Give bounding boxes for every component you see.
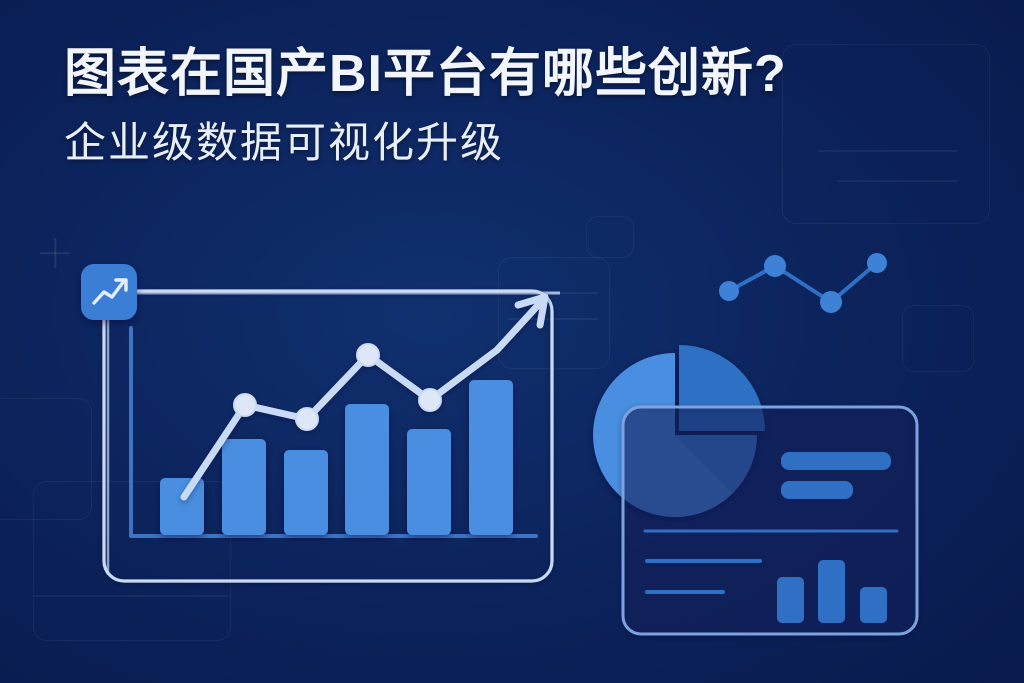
page-title: 图表在国产BI平台有哪些创新? (64, 44, 1014, 104)
illustration-area (0, 235, 1024, 683)
dashboard-kpi-bar-1 (781, 452, 891, 470)
bar-1 (160, 478, 204, 535)
trending-up-badge (81, 264, 137, 320)
bar-4 (345, 404, 389, 535)
bar-3 (284, 450, 328, 535)
poster-canvas: 图表在国产BI平台有哪些创新? 企业级数据可视化升级 (0, 0, 1024, 683)
dashboard-mini-bar-3 (860, 587, 887, 623)
trend-marker-4 (419, 389, 441, 411)
decorative-line-2 (838, 180, 958, 182)
page-subtitle: 企业级数据可视化升级 (64, 118, 1014, 168)
mini-line-chart (719, 253, 887, 313)
headline-block: 图表在国产BI平台有哪些创新? 企业级数据可视化升级 (64, 44, 1014, 169)
dashboard-mini-bar-2 (818, 560, 845, 623)
bar-5 (407, 429, 451, 535)
bar-2 (222, 439, 266, 535)
dashboard-panel-card (623, 407, 917, 634)
trend-marker-1 (234, 394, 256, 416)
dashboard-mini-bar-1 (777, 577, 804, 623)
trend-marker-3 (357, 344, 379, 366)
bar-6 (469, 380, 513, 535)
sparkline-dot-3 (820, 291, 842, 313)
trend-marker-2 (296, 408, 318, 430)
sparkline-dot-2 (764, 255, 786, 277)
sparkline-dot-1 (719, 281, 739, 301)
sparkline-dot-4 (867, 253, 887, 273)
dashboard-kpi-bar-2 (781, 481, 853, 499)
